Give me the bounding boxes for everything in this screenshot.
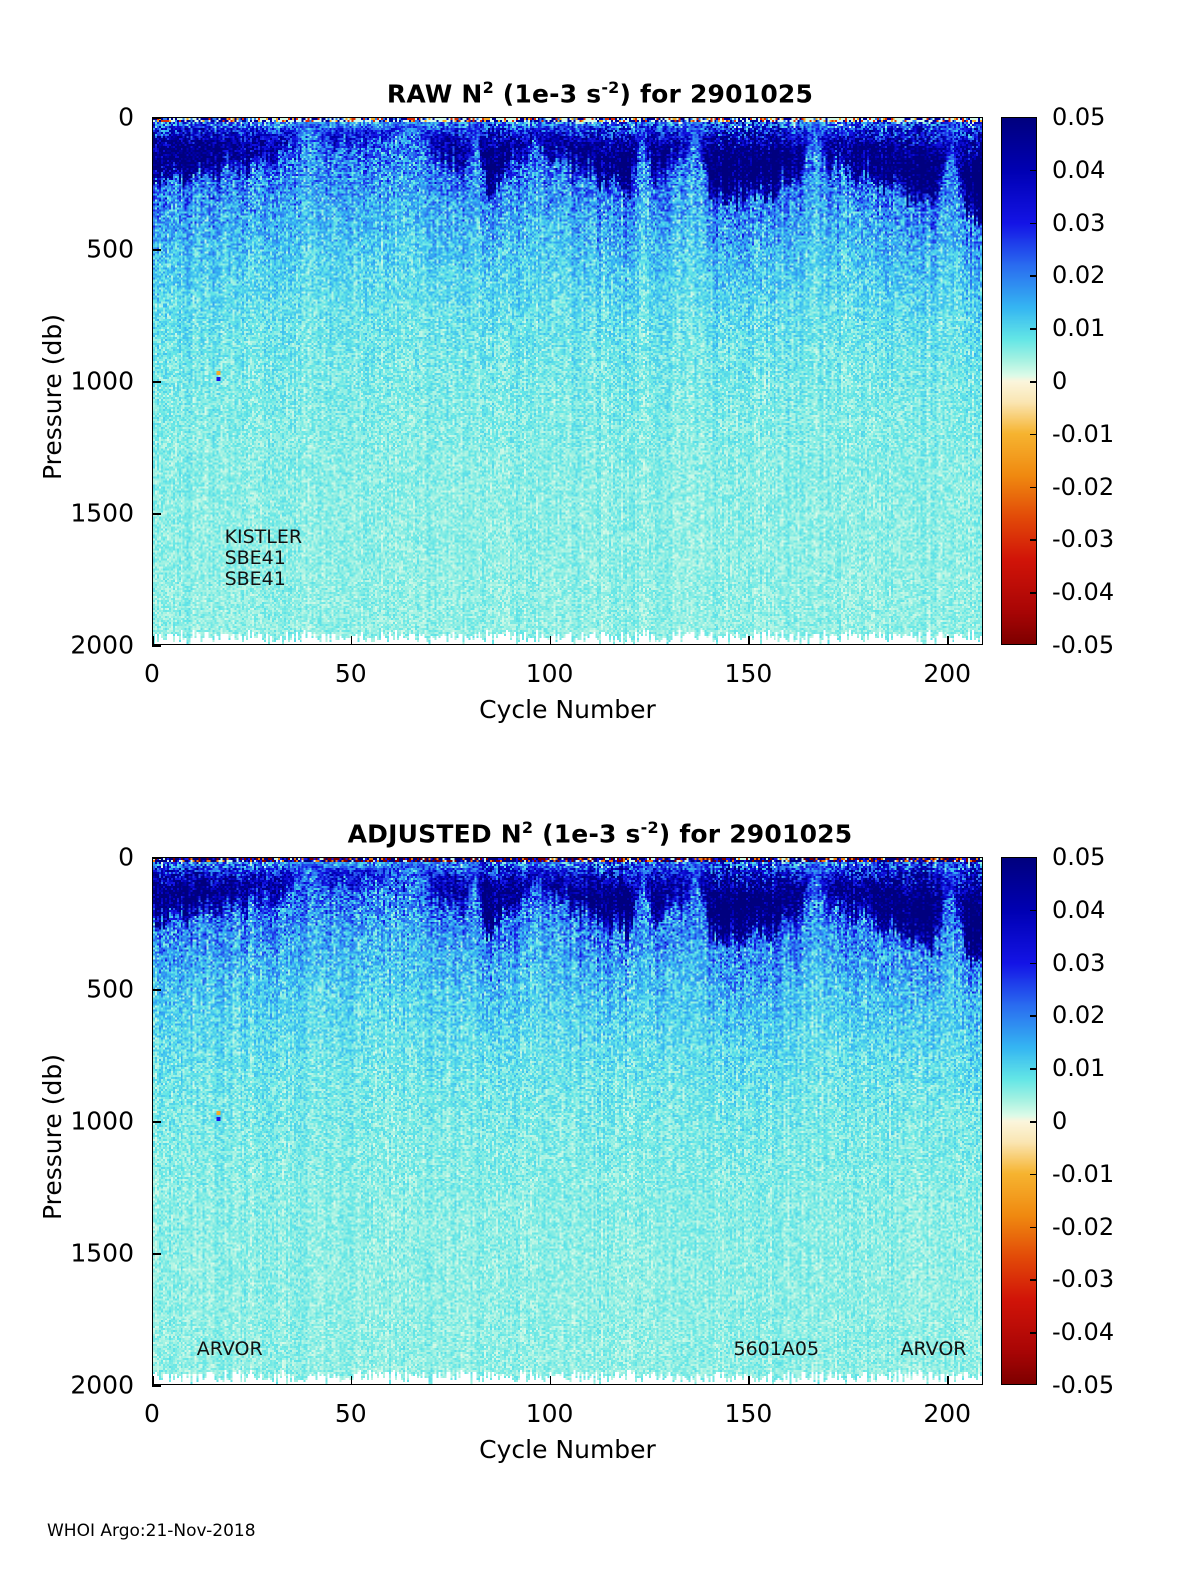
colorbar-tick-mark: [1030, 592, 1037, 594]
plot-title-adjusted: ADJUSTED N2 (1e-3 s-2) for 2901025: [0, 818, 1200, 848]
plot-annotation: ARVOR: [197, 1338, 263, 1360]
colorbar-tick-mark: [1030, 1174, 1037, 1176]
y-tick-label: 500: [86, 975, 146, 1004]
title-superscript-minus2: -2: [601, 78, 619, 97]
y-tick-mark: [152, 513, 161, 515]
plot-annotation: SBE41: [225, 568, 286, 590]
y-tick-mark: [152, 857, 161, 859]
x-tick-mark: [152, 636, 154, 645]
colorbar-tick-mark: [1030, 1279, 1037, 1281]
x-tick-label: 50: [335, 659, 367, 688]
y-axis-ticks-adjusted: 0500100015002000: [0, 857, 146, 1385]
x-tick-mark: [152, 1376, 154, 1385]
x-tick-mark: [550, 636, 552, 645]
colorbar-tick-mark: [1030, 963, 1037, 965]
colorbar-tick-label: 0.04: [1052, 896, 1105, 924]
x-tick-mark: [748, 1376, 750, 1385]
y-axis-ticks-raw: 0500100015002000: [0, 117, 146, 645]
x-tick-label: 100: [526, 1399, 574, 1428]
colorbar-tick-label: -0.03: [1052, 1265, 1114, 1293]
colorbar-tick-mark: [1030, 223, 1037, 225]
x-tick-mark: [947, 636, 949, 645]
colorbar-tick-mark: [1030, 1015, 1037, 1017]
colorbar-tick-label: -0.01: [1052, 420, 1114, 448]
colorbar-tick-label: -0.04: [1052, 1318, 1114, 1346]
title-superscript-minus2-adj: -2: [641, 818, 659, 837]
colorbar-tick-label: -0.02: [1052, 1213, 1114, 1241]
y-tick-label: 1000: [70, 1107, 146, 1136]
x-tick-label: 200: [923, 659, 971, 688]
x-tick-mark: [748, 636, 750, 645]
colorbar-tick-label: -0.05: [1052, 1371, 1114, 1399]
y-tick-mark: [152, 1385, 161, 1387]
y-tick-mark: [152, 1253, 161, 1255]
colorbar-tick-label: -0.04: [1052, 578, 1114, 606]
plot-annotation: KISTLER: [225, 526, 303, 548]
colorbar-tick-label: 0.03: [1052, 209, 1105, 237]
y-tick-mark: [152, 989, 161, 991]
x-tick-mark: [351, 636, 353, 645]
colorbar-tick-mark: [1030, 1332, 1037, 1334]
x-tick-label: 0: [144, 659, 160, 688]
title-text-raw: RAW N: [387, 79, 483, 108]
footer-credit: WHOI Argo:21-Nov-2018: [47, 1521, 256, 1541]
colorbar-tick-label: 0: [1052, 1107, 1067, 1135]
y-tick-label: 2000: [70, 1371, 146, 1400]
x-tick-label: 50: [335, 1399, 367, 1428]
x-tick-mark: [947, 1376, 949, 1385]
colorbar-tick-mark: [1030, 1227, 1037, 1229]
colorbar-tick-mark: [1030, 1121, 1037, 1123]
x-tick-mark: [550, 1376, 552, 1385]
colorbar-tick-label: 0.03: [1052, 949, 1105, 977]
y-tick-label: 1000: [70, 367, 146, 396]
colorbar-tick-label: -0.01: [1052, 1160, 1114, 1188]
y-tick-label: 500: [86, 235, 146, 264]
x-tick-label: 0: [144, 1399, 160, 1428]
colorbar-tick-label: 0.02: [1052, 261, 1105, 289]
panel-raw: RAW N2 (1e-3 s-2) for 2901025 Pressure (…: [0, 0, 1200, 760]
colorbar-tick-mark: [1030, 910, 1037, 912]
y-tick-label: 2000: [70, 631, 146, 660]
y-tick-mark: [152, 645, 161, 647]
y-tick-mark: [152, 1121, 161, 1123]
panel-adjusted: ADJUSTED N2 (1e-3 s-2) for 2901025 Press…: [0, 740, 1200, 1500]
heatmap-axes-raw: KISTLERSBE41SBE41: [152, 117, 983, 645]
colorbar-tick-mark: [1030, 275, 1037, 277]
x-tick-label: 100: [526, 659, 574, 688]
colorbar-tick-label: 0.01: [1052, 1054, 1105, 1082]
y-tick-mark: [152, 117, 161, 119]
colorbar-tick-label: 0.04: [1052, 156, 1105, 184]
x-tick-label: 150: [725, 659, 773, 688]
colorbar-tick-label: -0.05: [1052, 631, 1114, 659]
y-tick-mark: [152, 381, 161, 383]
title-superscript-2: 2: [483, 78, 494, 97]
colorbar-tick-label: 0.05: [1052, 843, 1105, 871]
colorbar-tick-mark: [1030, 170, 1037, 172]
colorbar-tick-mark: [1030, 328, 1037, 330]
title-mid-raw: (1e-3 s: [494, 79, 601, 108]
title-suffix-adjusted: ) for 2901025: [659, 819, 853, 848]
y-tick-label: 1500: [70, 499, 146, 528]
title-text-adjusted: ADJUSTED N: [348, 819, 522, 848]
heatmap-axes-adjusted: ARVOR5601A05ARVOR: [152, 857, 983, 1385]
plot-annotation: SBE41: [225, 547, 286, 569]
colorbar-tick-mark: [1030, 434, 1037, 436]
x-tick-mark: [351, 1376, 353, 1385]
colorbar-tick-label: 0.05: [1052, 103, 1105, 131]
plot-annotation: ARVOR: [901, 1338, 967, 1360]
plot-title-raw: RAW N2 (1e-3 s-2) for 2901025: [0, 78, 1200, 108]
colorbar-tick-label: 0.02: [1052, 1001, 1105, 1029]
plot-annotation: 5601A05: [734, 1338, 820, 1360]
colorbar-tick-label: -0.02: [1052, 473, 1114, 501]
x-tick-label: 200: [923, 1399, 971, 1428]
title-superscript-2-adj: 2: [522, 818, 533, 837]
y-tick-label: 1500: [70, 1239, 146, 1268]
title-mid-adjusted: (1e-3 s: [533, 819, 640, 848]
colorbar-tick-mark: [1030, 539, 1037, 541]
heatmap-image-adjusted: [153, 858, 982, 1384]
colorbar-tick-label: -0.03: [1052, 525, 1114, 553]
title-suffix-raw: ) for 2901025: [620, 79, 814, 108]
colorbar-tick-mark: [1030, 1068, 1037, 1070]
colorbar-tick-mark: [1030, 381, 1037, 383]
colorbar-tick-label: 0: [1052, 367, 1067, 395]
y-tick-label: 0: [118, 843, 146, 872]
colorbar-tick-mark: [1030, 487, 1037, 489]
y-tick-label: 0: [118, 103, 146, 132]
colorbar-tick-label: 0.01: [1052, 314, 1105, 342]
x-axis-label-adjusted: Cycle Number: [152, 1435, 983, 1464]
x-tick-label: 150: [725, 1399, 773, 1428]
y-tick-mark: [152, 249, 161, 251]
x-axis-label-raw: Cycle Number: [152, 695, 983, 724]
